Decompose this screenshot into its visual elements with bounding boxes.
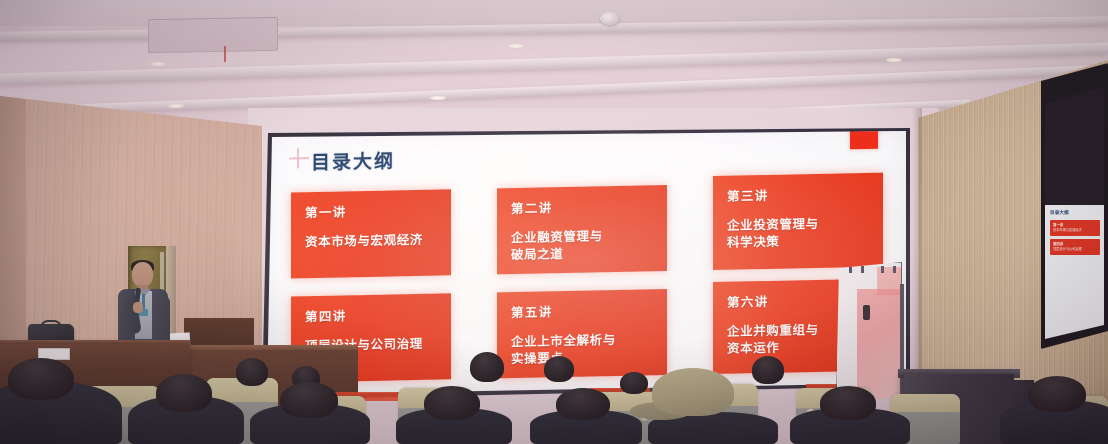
conference-photo: 目录大纲 第一讲 资本市场与宏观经济 第四讲 顶层设计与公司治理 目录大纲 第一… (0, 0, 1108, 444)
wall-monitor-card-body: 资本市场与宏观经济 (1053, 229, 1097, 233)
audience-head (752, 356, 784, 384)
downlight-icon (430, 96, 446, 100)
downlight-icon (150, 62, 166, 66)
wall-monitor-card: 第一讲 资本市场与宏观经济 (1050, 220, 1100, 236)
wall-monitor-card: 第四讲 顶层设计与公司治理 (1050, 239, 1100, 255)
audience-head (1028, 376, 1086, 412)
audience-head (424, 386, 480, 420)
slide-card-2: 第二讲 企业融资管理与破局之道 (497, 185, 667, 274)
audience-head (820, 386, 876, 420)
audience-head (556, 388, 610, 420)
whiteboard-clip-icon (881, 266, 884, 273)
cross-decoration-icon (289, 148, 309, 168)
audience-area (0, 352, 1108, 444)
wall-monitor-screen: 目录大纲 第一讲 资本市场与宏观经济 第四讲 顶层设计与公司治理 (1045, 87, 1104, 339)
audience-head (236, 358, 268, 386)
wall-monitor-card-body: 顶层设计与公司治理 (1053, 248, 1097, 252)
audience-head (280, 382, 338, 418)
wall-monitor-card-heading: 第一讲 (1053, 222, 1097, 227)
audience-head (470, 352, 504, 382)
downlight-icon (168, 104, 184, 108)
slide-card-5-heading: 第五讲 (511, 299, 655, 321)
slide-card-1: 第一讲 资本市场与宏观经济 (291, 189, 451, 278)
red-square-logo-icon (850, 131, 878, 149)
air-vent-icon (148, 17, 278, 53)
slide-card-2-heading: 第二讲 (511, 195, 655, 217)
wall-monitor-slide-title: 目录大纲 (1050, 210, 1100, 216)
downlight-icon (886, 58, 902, 62)
smoke-detector-icon (600, 12, 620, 25)
presenter-head (132, 262, 153, 287)
presenter-hand (133, 302, 143, 313)
whiteboard-clip-icon (861, 266, 864, 273)
slide-card-3: 第三讲 企业投资管理与科学决策 (713, 173, 883, 270)
wall-monitor-card-heading: 第四讲 (1053, 241, 1097, 246)
wall-monitor-slide: 目录大纲 第一讲 资本市场与宏观经济 第四讲 顶层设计与公司治理 (1045, 205, 1104, 339)
downlight-icon (508, 44, 524, 48)
audience-head (8, 358, 74, 400)
sprinkler-pipe-icon (224, 46, 226, 62)
slide-card-3-body: 企业投资管理与科学决策 (727, 215, 871, 251)
slide-card-3-heading: 第三讲 (727, 183, 871, 205)
chair-headrest (890, 394, 960, 412)
baseball-cap-icon (652, 368, 734, 416)
whiteboard-clip-icon (849, 266, 852, 273)
audience-head (620, 372, 648, 394)
slide-title: 目录大纲 (311, 146, 395, 175)
slide-card-4-heading: 第四讲 (305, 304, 439, 326)
wall-monitor[interactable]: 目录大纲 第一讲 资本市场与宏观经济 第四讲 顶层设计与公司治理 (1041, 63, 1108, 349)
audience-head (156, 374, 212, 412)
audience-head (544, 356, 574, 382)
whiteboard-marker-icon (863, 305, 870, 320)
whiteboard-clip-icon (893, 266, 896, 273)
slide-card-2-body: 企业融资管理与破局之道 (511, 227, 655, 263)
slide-card-1-heading: 第一讲 (305, 200, 439, 222)
slide-card-1-body: 资本市场与宏观经济 (305, 232, 439, 251)
